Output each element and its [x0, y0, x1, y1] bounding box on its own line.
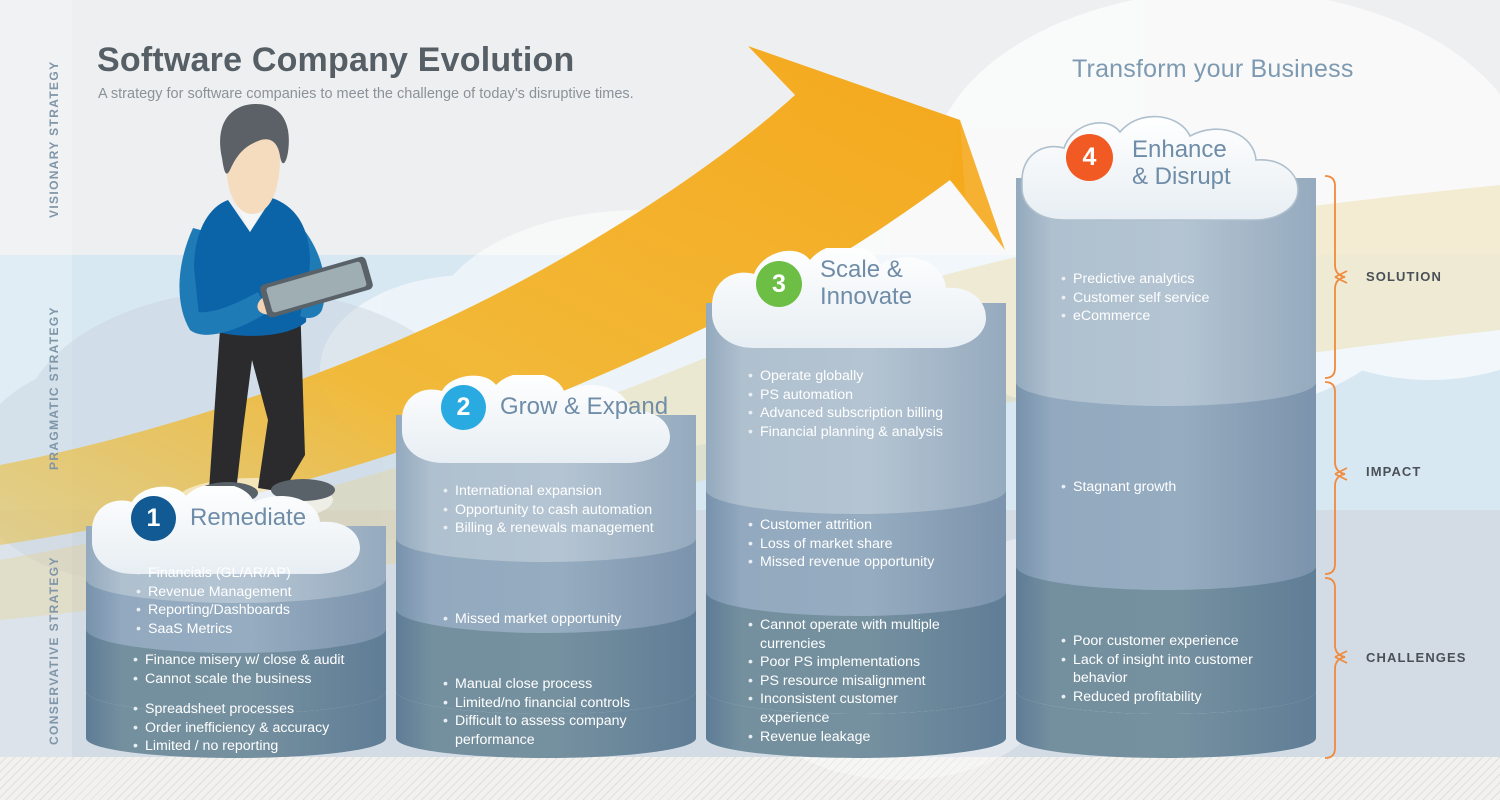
list-item: Reporting/Dashboards — [136, 601, 292, 620]
impact-items: Missed market opportunity — [443, 610, 621, 629]
page-title: Software Company Evolution — [97, 41, 574, 80]
list-item: eCommerce — [1061, 307, 1209, 326]
stage-4-impact-list: Stagnant growth — [1061, 478, 1176, 497]
stage-2-challenges-list: Manual close processLimited/no financial… — [443, 675, 673, 749]
list-item: Financial planning & analysis — [748, 423, 943, 442]
list-item: SaaS Metrics — [136, 620, 292, 639]
solution-items: Operate globallyPS automationAdvanced su… — [748, 367, 943, 441]
list-item: Opportunity to cash automation — [443, 501, 654, 520]
challenge-items: Poor customer experienceLack of insight … — [1061, 632, 1266, 706]
list-item: Predictive analytics — [1061, 270, 1209, 289]
list-item: Stagnant growth — [1061, 478, 1176, 497]
list-item: Customer attrition — [748, 516, 934, 535]
impact-items: Finance misery w/ close & auditCannot sc… — [133, 651, 345, 688]
list-item: Limited/no financial controls — [443, 694, 673, 713]
stage-2-badge: 2 — [441, 385, 486, 430]
list-item: Financials (GL/AR/AP) — [136, 564, 292, 583]
list-item: Spreadsheet processes — [133, 700, 329, 719]
stage-pillar-1[interactable]: 1 Remediate Financials (GL/AR/AP)Revenue… — [78, 486, 394, 758]
list-item: Poor customer experience — [1061, 632, 1266, 651]
solution-items: Predictive analyticsCustomer self servic… — [1061, 270, 1209, 326]
list-item: International expansion — [443, 482, 654, 501]
list-item: Revenue Management — [136, 583, 292, 602]
list-item: Missed market opportunity — [443, 610, 621, 629]
bracket-label-challenges: CHALLENGES — [1366, 650, 1467, 665]
stage-3-solution-list: Operate globallyPS automationAdvanced su… — [748, 367, 943, 441]
list-item: Reduced profitability — [1061, 688, 1266, 707]
challenge-items: Spreadsheet processesOrder inefficiency … — [133, 700, 329, 756]
axis-label-conservative: CONSERVATIVE STRATEGY — [47, 556, 61, 745]
list-item: Finance misery w/ close & audit — [133, 651, 345, 670]
stage-1-impact-list: Finance misery w/ close & auditCannot sc… — [133, 651, 345, 688]
solution-items: Financials (GL/AR/AP)Revenue ManagementR… — [136, 564, 292, 638]
infographic-canvas: VISIONARY STRATEGY PRAGMATIC STRATEGY CO… — [0, 0, 1500, 800]
list-item: Advanced subscription billing — [748, 404, 943, 423]
stage-pillar-4[interactable]: 4 Enhance & Disrupt Predictive analytics… — [1008, 110, 1324, 758]
stage-4-badge: 4 — [1066, 134, 1113, 181]
stage-4-challenges-list: Poor customer experienceLack of insight … — [1061, 632, 1266, 706]
stage-2-solution-list: International expansionOpportunity to ca… — [443, 482, 654, 538]
stage-3-impact-list: Customer attritionLoss of market shareMi… — [748, 516, 934, 572]
list-item: Cannot scale the business — [133, 670, 345, 689]
list-item: PS resource misalignment — [748, 672, 948, 691]
challenge-items: Cannot operate with multiple currenciesP… — [748, 616, 948, 746]
stage-pillar-3[interactable]: 3 Scale & Innovate Operate globallyPS au… — [698, 248, 1014, 758]
stage-pillar-2[interactable]: 2 Grow & Expand International expansionO… — [388, 375, 704, 758]
list-item: PS automation — [748, 386, 943, 405]
stage-4-solution-list: Predictive analyticsCustomer self servic… — [1061, 270, 1209, 326]
bracket-label-solution: SOLUTION — [1366, 269, 1442, 284]
bracket-label-impact: IMPACT — [1366, 464, 1421, 479]
list-item: Manual close process — [443, 675, 673, 694]
list-item: Loss of market share — [748, 535, 934, 554]
solution-items: International expansionOpportunity to ca… — [443, 482, 654, 538]
list-item: Cannot operate with multiple currencies — [748, 616, 948, 653]
stage-4-title: Enhance & Disrupt — [1132, 136, 1231, 190]
impact-items: Stagnant growth — [1061, 478, 1176, 497]
axis-label-pragmatic: PRAGMATIC STRATEGY — [47, 306, 61, 470]
stage-3-badge: 3 — [756, 261, 802, 307]
stage-2-title: Grow & Expand — [500, 393, 668, 420]
challenge-items: Manual close processLimited/no financial… — [443, 675, 673, 749]
stage-1-title: Remediate — [190, 504, 306, 531]
page-subtitle: A strategy for software companies to mee… — [98, 86, 634, 102]
stage-3-challenges-list: Cannot operate with multiple currenciesP… — [748, 616, 948, 746]
list-item: Missed revenue opportunity — [748, 553, 934, 572]
list-item: Operate globally — [748, 367, 943, 386]
list-item: Revenue leakage — [748, 728, 948, 747]
list-item: Limited / no reporting — [133, 737, 329, 756]
stage-1-challenges-list: Spreadsheet processesOrder inefficiency … — [133, 700, 329, 756]
axis-label-visionary: VISIONARY STRATEGY — [47, 61, 61, 218]
list-item: Poor PS implementations — [748, 653, 948, 672]
list-item: Order inefficiency & accuracy — [133, 719, 329, 738]
impact-items: Customer attritionLoss of market shareMi… — [748, 516, 934, 572]
stage-3-title: Scale & Innovate — [820, 256, 912, 310]
list-item: Customer self service — [1061, 289, 1209, 308]
list-item: Difficult to assess company performance — [443, 712, 673, 749]
list-item: Lack of insight into customer behavior — [1061, 651, 1266, 688]
list-item: Billing & renewals management — [443, 519, 654, 538]
stage-2-impact-list: Missed market opportunity — [443, 610, 621, 629]
transform-headline: Transform your Business — [1072, 55, 1354, 84]
list-item: Inconsistent customer experience — [748, 690, 948, 727]
stage-1-solution-list: Financials (GL/AR/AP)Revenue ManagementR… — [136, 564, 292, 638]
stage-1-badge: 1 — [131, 496, 176, 541]
